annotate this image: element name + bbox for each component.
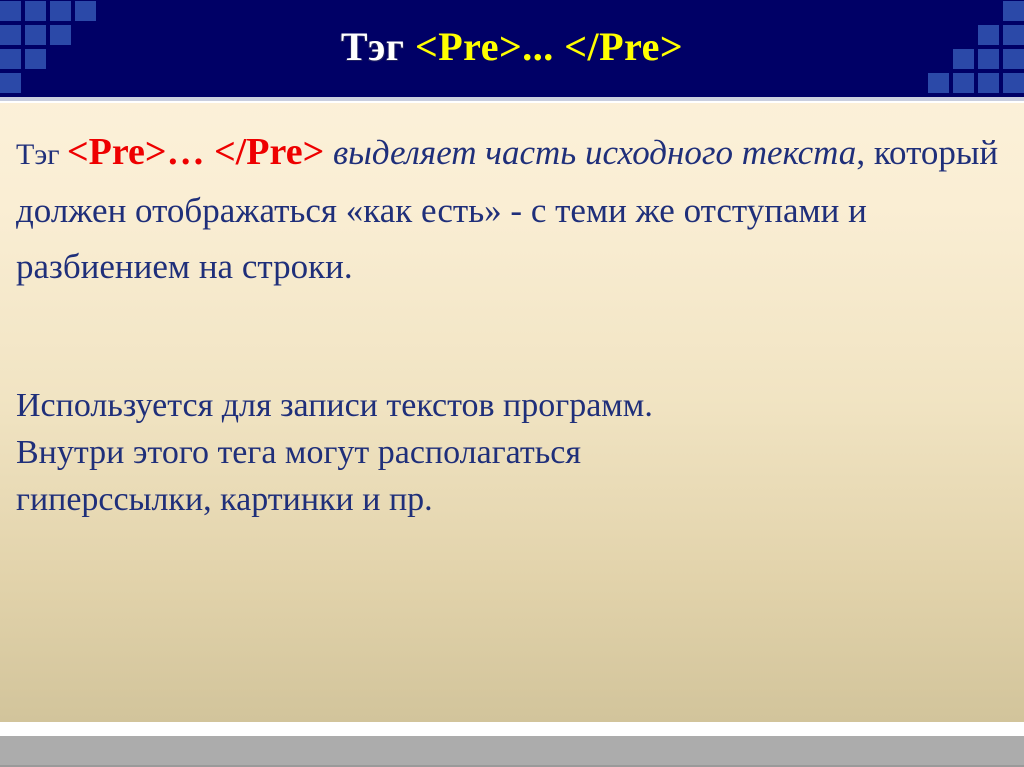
slide-header: Тэг <Pre>... </Pre> [0, 0, 1024, 97]
page-title: Тэг <Pre>... </Pre> [0, 17, 1024, 77]
header-divider [0, 97, 1024, 103]
slide: Тэг <Pre>... </Pre> Тэг <Pre>… </Pre> вы… [0, 0, 1024, 722]
slide-body: Тэг <Pre>… </Pre> выделяет часть исходно… [0, 104, 1024, 722]
title-tag-open: <Pre>... [415, 24, 554, 69]
viewer-bottom-bar[interactable] [0, 736, 1024, 767]
paragraph-1-space-3 [324, 133, 333, 172]
paragraph-definition: Тэг <Pre>… </Pre> выделяет часть исходно… [0, 124, 1024, 295]
paragraph-2-line-2: Внутри этого тега могут располагаться [16, 429, 1006, 476]
title-tag-gap [554, 24, 565, 69]
title-plain-text: Тэг [341, 24, 405, 69]
paragraph-2-line-3: гиперссылки, картинки и пр. [16, 476, 1006, 523]
paragraph-1-tag-open: <Pre>… [67, 131, 205, 173]
paragraph-1-space-1 [60, 138, 68, 171]
paragraph-1-space-2 [205, 131, 215, 173]
title-tag-close: </Pre> [564, 24, 683, 69]
paragraph-1-tag-close: </Pre> [214, 131, 324, 173]
paragraph-1-lead: Тэг [16, 138, 60, 171]
paragraph-2-line-1: Используется для записи текстов программ… [16, 382, 1006, 429]
paragraph-usage: Используется для записи текстов программ… [0, 382, 1024, 523]
paragraph-1-italic: выделяет часть исходного текста [333, 133, 856, 172]
slide-gap [0, 722, 1024, 736]
title-space [404, 24, 415, 69]
